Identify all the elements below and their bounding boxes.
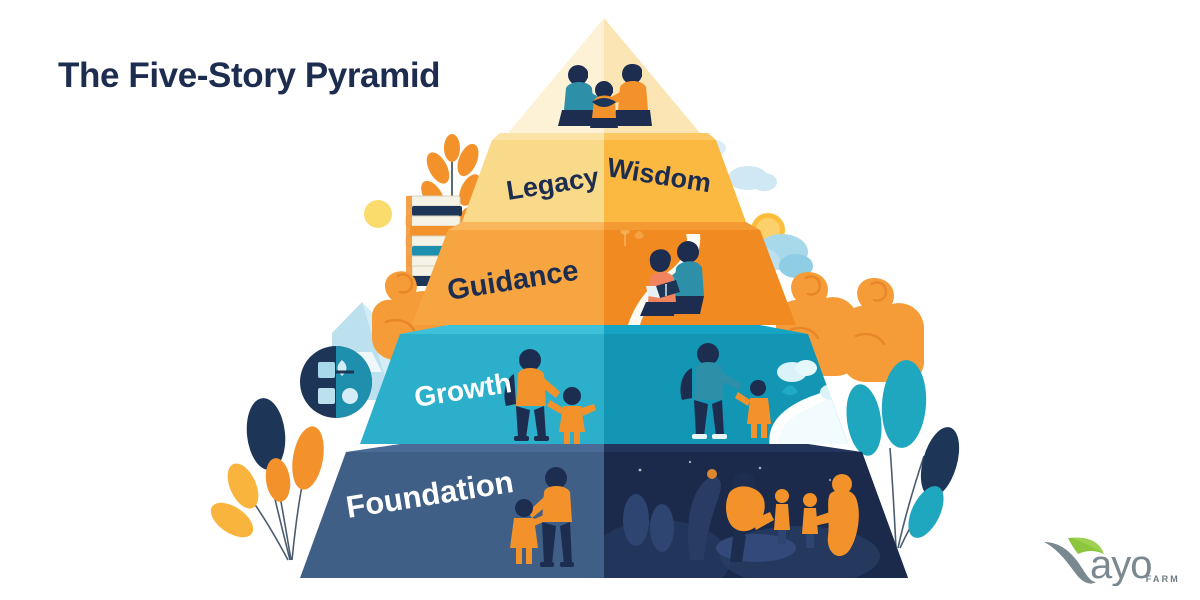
foundation-night-illustration <box>590 444 914 600</box>
decoration-plant-left-bottom <box>205 396 328 560</box>
svg-text:ayo: ayo <box>1090 543 1152 586</box>
guidance-top-bevel-right <box>604 222 760 230</box>
pyramid-level-growth[interactable]: Growth <box>360 325 854 446</box>
pyramid-level-legacy-wisdom[interactable]: Legacy Wisdom <box>462 133 746 222</box>
decoration-cloud-right-mid <box>728 166 777 191</box>
tier2-top-bevel-left <box>492 133 604 140</box>
decoration-circle-badge-icon <box>300 346 372 418</box>
pyramid-level-guidance[interactable]: Guidance <box>412 222 796 325</box>
guidance-top-bevel-left <box>448 222 604 230</box>
decoration-sun-dot-left <box>364 200 392 228</box>
pyramid-level-foundation[interactable]: Foundation <box>300 444 914 600</box>
brand-logo[interactable]: ayo FARM <box>1038 528 1186 586</box>
pyramid-infographic: The Five-Story Pyramid <box>0 0 1200 600</box>
logo-tagline: FARM <box>1146 574 1180 584</box>
pyramid-level-apex[interactable] <box>508 18 700 133</box>
pyramid-diagram: Foundation <box>0 0 1200 600</box>
foundation-top-bevel-right <box>604 444 862 452</box>
foundation-top-bevel-left <box>346 444 604 452</box>
tier2-top-bevel-right <box>604 133 716 140</box>
